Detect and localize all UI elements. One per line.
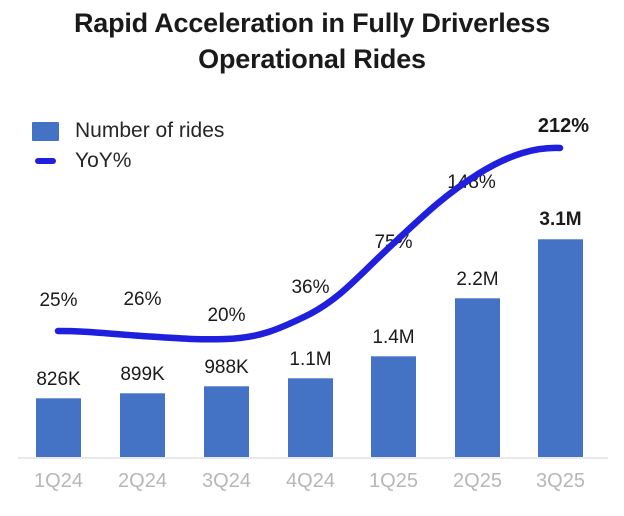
- bar-1q25: [371, 356, 416, 458]
- x-tick-2q24: 2Q24: [97, 470, 188, 493]
- bar-3q25: [538, 239, 583, 458]
- line-value-label-3q24: 20%: [181, 305, 272, 327]
- bar-value-label-1q24: 826K: [13, 369, 104, 391]
- bar-2q24: [120, 393, 165, 458]
- bar-value-label-4q24: 1.1M: [265, 349, 356, 371]
- line-value-label-2q24: 26%: [97, 289, 188, 311]
- plot-area: 826K 899K 988K 1.1M 1.4M 2.2M 3.1M 25% 2…: [0, 0, 624, 516]
- x-axis-line: [18, 457, 608, 459]
- line-value-label-1q24: 25%: [13, 290, 104, 312]
- line-value-label-1q25: 75%: [348, 232, 439, 254]
- x-tick-4q24: 4Q24: [265, 470, 356, 493]
- chart-container: Rapid Acceleration in Fully Driverless O…: [0, 0, 624, 516]
- x-tick-3q25: 3Q25: [515, 470, 606, 493]
- line-value-label-3q25: 212%: [518, 115, 609, 138]
- bar-value-label-3q24: 988K: [181, 357, 272, 379]
- line-value-label-2q25: 148%: [426, 172, 517, 194]
- bar-value-label-3q25: 3.1M: [515, 209, 606, 231]
- x-tick-3q24: 3Q24: [181, 470, 272, 493]
- bar-value-label-2q25: 2.2M: [432, 269, 523, 291]
- bar-2q25: [455, 298, 500, 458]
- bar-4q24: [288, 378, 333, 458]
- bar-value-label-1q25: 1.4M: [348, 327, 439, 349]
- x-tick-2q25: 2Q25: [432, 470, 523, 493]
- bar-1q24: [36, 398, 81, 458]
- x-tick-1q24: 1Q24: [13, 470, 104, 493]
- bar-3q24: [204, 386, 249, 458]
- bar-value-label-2q24: 899K: [97, 364, 188, 386]
- x-tick-1q25: 1Q25: [348, 470, 439, 493]
- line-value-label-4q24: 36%: [265, 277, 356, 299]
